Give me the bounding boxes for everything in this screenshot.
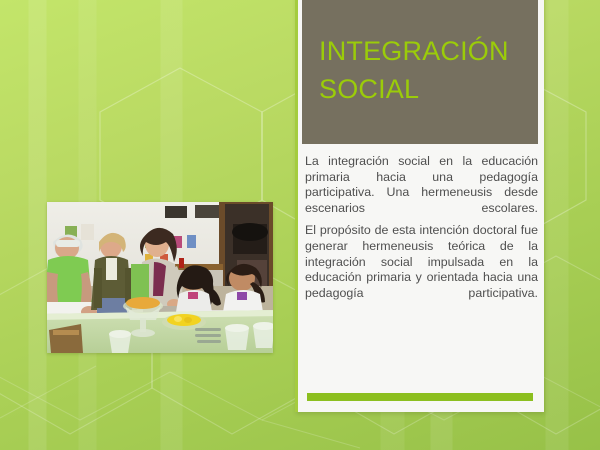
classroom-photo-illustration xyxy=(47,202,273,353)
bottom-accent-bar xyxy=(307,393,533,401)
title-box: INTEGRACIÓN SOCIAL xyxy=(302,0,538,144)
paragraph-2: El propósito de esta intención doctoral … xyxy=(305,223,538,301)
paragraph-1: La integración social en la educación pr… xyxy=(305,154,538,216)
cutlery xyxy=(195,328,221,343)
fruit-plate xyxy=(162,314,206,330)
body-text: La integración social en la educación pr… xyxy=(305,154,538,301)
presentation-slide: INTEGRACIÓN SOCIAL La integración social… xyxy=(0,0,600,450)
slide-photo xyxy=(47,202,273,353)
water-glass-left xyxy=(109,330,131,353)
page-title: INTEGRACIÓN SOCIAL xyxy=(319,32,529,108)
content-panel: INTEGRACIÓN SOCIAL La integración social… xyxy=(295,0,544,412)
panel-left-accent-edge xyxy=(295,0,298,412)
